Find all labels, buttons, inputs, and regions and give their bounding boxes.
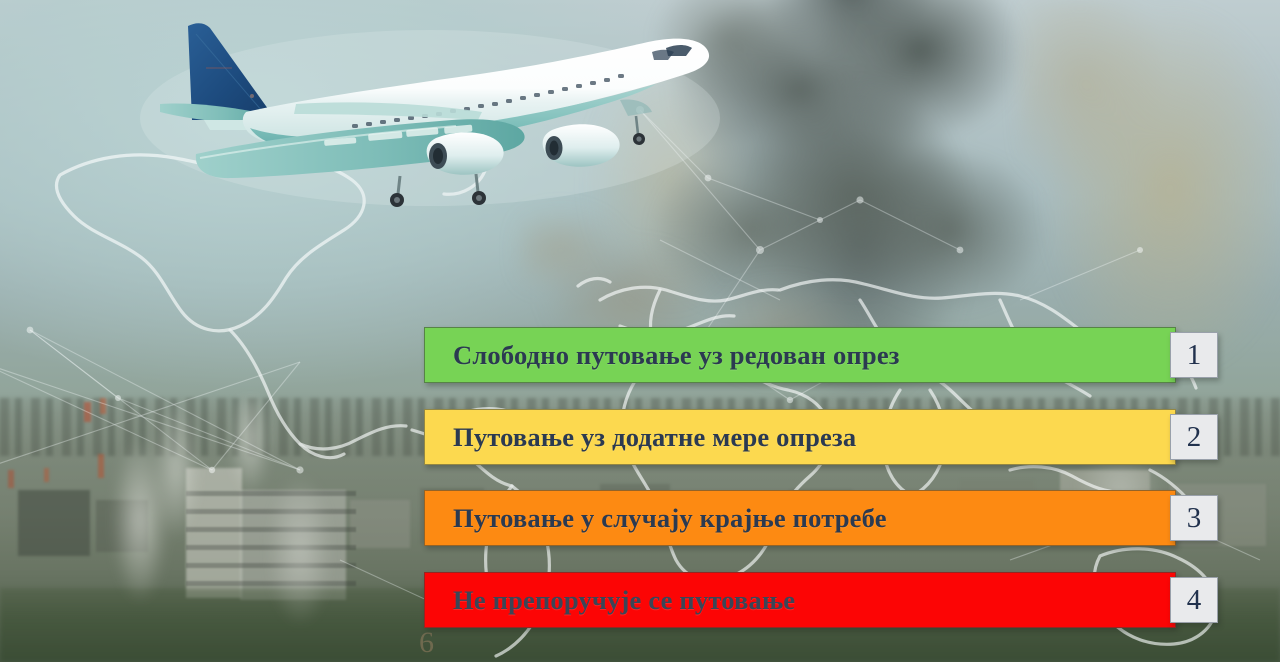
legend-row-3[interactable]: Путовање у случају крајње потребе 3: [424, 490, 1176, 546]
legend-bar-4[interactable]: Не препоручује се путовање: [424, 572, 1176, 628]
legend-level-badge-2: 2: [1170, 414, 1218, 460]
legend-label-4: Не препоручује се путовање: [453, 585, 795, 616]
legend-level-badge-4: 4: [1170, 577, 1218, 623]
legend-bar-1[interactable]: Слободно путовање уз редован опрез: [424, 327, 1176, 383]
legend-level-badge-3: 3: [1170, 495, 1218, 541]
legend-label-3: Путовање у случају крајње потребе: [453, 503, 887, 534]
legend-level-badge-1: 1: [1170, 332, 1218, 378]
legend-row-1[interactable]: Слободно путовање уз редован опрез 1: [424, 327, 1176, 383]
travel-advisory-legend: Слободно путовање уз редован опрез 1 Пут…: [0, 0, 1280, 662]
legend-bar-2[interactable]: Путовање уз додатне мере опреза: [424, 409, 1176, 465]
legend-label-2: Путовање уз додатне мере опреза: [453, 422, 856, 453]
legend-row-2[interactable]: Путовање уз додатне мере опреза 2: [424, 409, 1176, 465]
slide-canvas: 6 Слободно путовање уз редован опрез 1 П…: [0, 0, 1280, 662]
legend-bar-3[interactable]: Путовање у случају крајње потребе: [424, 490, 1176, 546]
legend-row-4[interactable]: Не препоручује се путовање 4: [424, 572, 1176, 628]
legend-label-1: Слободно путовање уз редован опрез: [453, 340, 900, 371]
